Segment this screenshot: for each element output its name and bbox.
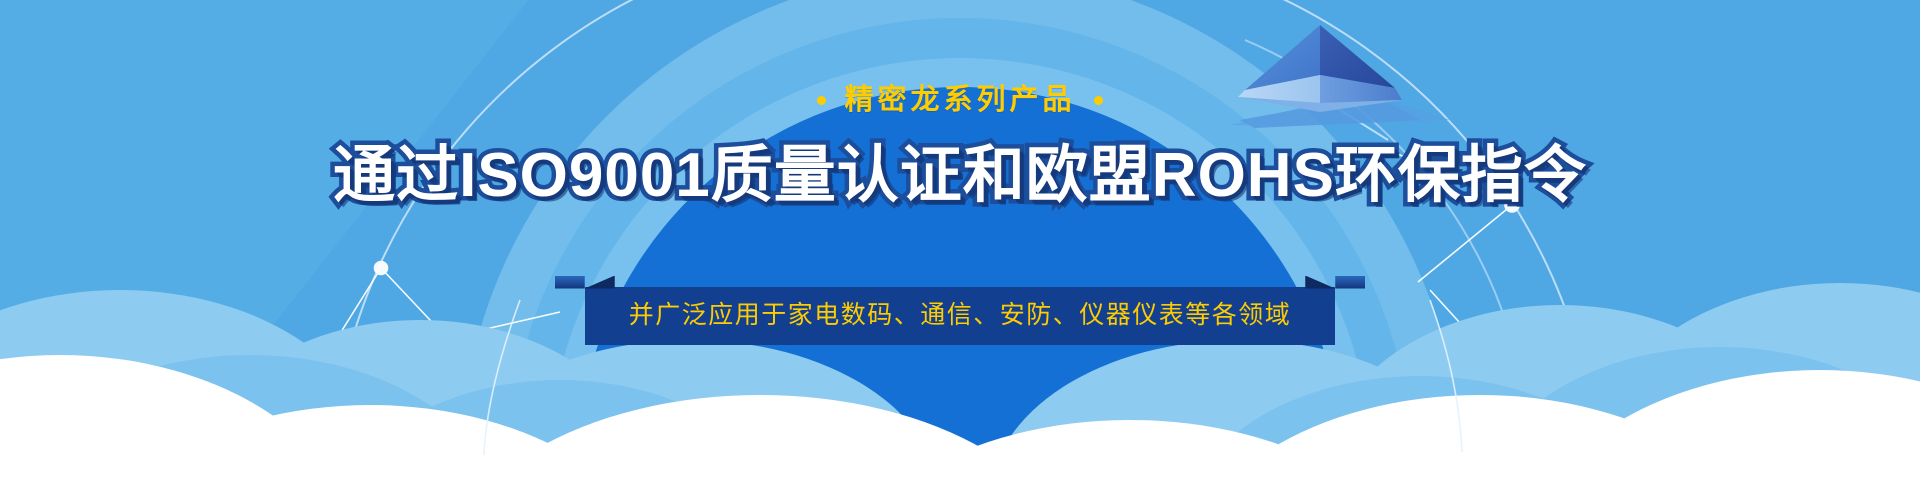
- network-node: [1505, 198, 1519, 212]
- banner-background-artwork: [0, 0, 1920, 480]
- network-node: [375, 262, 388, 275]
- promo-banner: 精密龙系列产品 通过ISO9001质量认证和欧盟ROHS环保指令 并广泛应用于家…: [0, 0, 1920, 480]
- cloud-floor: [0, 470, 1920, 480]
